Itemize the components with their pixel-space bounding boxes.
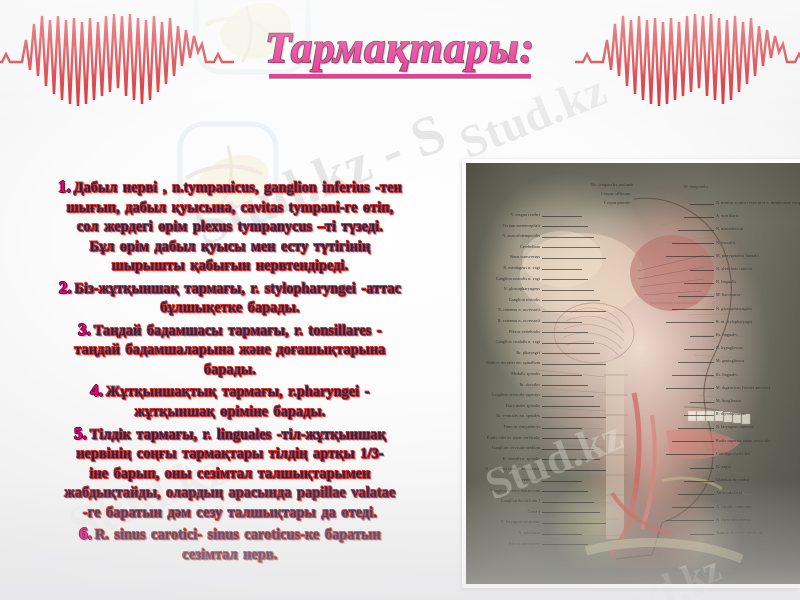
figure-label: R. thyrohyoideus — [716, 412, 746, 417]
figure-label: M. buccinator — [716, 293, 740, 298]
list-item-text: сезімтал нерв. — [183, 547, 278, 563]
list-item-line: Бұл өрім дабыл қуысы мен есту түтігінің — [4, 238, 456, 256]
figure-leader-line — [690, 204, 714, 205]
figure-leader-line — [542, 226, 588, 227]
list-item-text: жұтқыншақ өріміне барады. — [135, 404, 326, 420]
slide-title-block: Тармақтары: — [0, 26, 800, 78]
figure-leader-line — [542, 385, 588, 386]
figure-label: Ansa subclavia — [716, 491, 742, 496]
list-item-number: 4. — [90, 381, 103, 400]
list-item-line: таңдай бадамшаларына және доғашықтарына — [4, 341, 456, 359]
figure-leader-line — [542, 544, 588, 545]
figure-label: R. externus n. accessorii — [498, 319, 540, 324]
list-item-first-line: 1.Дабыл нервi , n.tympanicus, ganglion i… — [4, 176, 456, 198]
figure-label: R. internus n. accessorii — [498, 308, 540, 313]
figure-leader-line — [542, 512, 600, 513]
figure-label: N. lingualis — [716, 280, 736, 285]
list-item-text: шырышты қабығын нервтендіреді. — [112, 258, 348, 274]
figure-leader-line — [542, 247, 600, 248]
figure-leader-line — [666, 454, 714, 455]
figure-label: Ganglion thoracicum I — [501, 499, 540, 504]
list-item-line: шығып, дабыл қуысына, cavitas tympani-ге… — [4, 199, 456, 217]
figure-label: M. temporalis — [684, 185, 708, 190]
figure-label: N. hypoglossus — [716, 346, 743, 351]
figure-label: N. massetericus — [716, 227, 743, 232]
figure-leader-line — [542, 237, 594, 238]
figure-leader-line — [542, 290, 594, 291]
list-item-line: жабдықтайды, олардың арасында papillae v… — [4, 484, 456, 502]
list-item-line: -ге баратын дәм сезу талшықтары да өтеді… — [4, 504, 456, 522]
list-item-text: бұлшықетке барады. — [160, 300, 299, 316]
figure-label: M. hyoglossus — [716, 399, 741, 404]
figure-leader-line — [666, 256, 714, 257]
figure-label: R. meningeus n. vagi — [503, 266, 540, 271]
figure-label: N. vagus — [716, 465, 731, 470]
list-item-line: шырышты қабығын нервтендіреді. — [4, 257, 456, 275]
list-item-line: іне барып, оны сезімтал талшықтарымен — [4, 465, 456, 483]
figure-label: Medulla spinalis — [511, 372, 540, 377]
list-item-first-line: 4.Жұтқыншақтық тармағы, r.pharyngei - — [4, 380, 456, 402]
list-item-first-line: 3.Таңдай бадамшасы тармағы, r. tonsillar… — [4, 319, 456, 341]
figure-leader-line — [542, 438, 588, 439]
figure-label: Cerebellum — [520, 245, 540, 250]
figure-label: Ganglion cervicale medium — [492, 446, 540, 451]
figure-leader-line — [542, 311, 606, 312]
figure-label: Corpus callosum — [601, 192, 630, 197]
figure-label: Radix inferior ansae cervicalis — [487, 436, 540, 441]
figure-label: R. m. stylopharyngei — [716, 320, 752, 325]
slide-canvas: Stud.kz - S Stud.kz Stud.kz Stud.kz d.kz… — [0, 0, 800, 600]
figure-leader-line — [542, 523, 606, 524]
photo-bottom-band — [466, 568, 800, 584]
figure-label: Ganglion rostralis — [509, 298, 540, 303]
figure-label: N. cardiacus cervicalis superior — [485, 467, 540, 472]
figure-label: A. vertebralis — [516, 478, 540, 483]
figure-leader-line — [666, 322, 714, 323]
list-item-line: сезімтал нерв. — [4, 546, 456, 564]
list-item-number: 3. — [78, 320, 91, 339]
figure-label: Ganglion cervicothoracicum — [491, 489, 540, 494]
figure-label: Corpus pineale — [604, 201, 630, 206]
figure-label: Radix superior ansae cervicalis — [716, 439, 770, 444]
figure-label: Rr. linguales — [716, 333, 738, 338]
figure-label: N. laryngeus recurrens — [501, 520, 540, 525]
figure-label: M. genioglossus — [716, 359, 744, 364]
list-item-text: жабдықтайды, олардың арасында papillae v… — [65, 485, 396, 501]
figure-leader-line — [672, 309, 714, 310]
figure-leader-line — [542, 449, 594, 450]
figure-leader-line — [542, 364, 606, 365]
list-item-number: 1. — [58, 177, 71, 196]
figure-label: Truncus sympathicus — [503, 425, 540, 430]
figure-label: Sinus transversus — [510, 255, 540, 260]
figure-leader-line — [678, 296, 714, 297]
list-item-line: нервінің соңғы тармақтары тілдің артқы 1… — [4, 445, 456, 463]
figure-label: A. thyroidea interna — [716, 518, 751, 523]
figure-leader-line — [542, 322, 582, 323]
watermark-stud-kz: Stud.kz — [452, 63, 614, 169]
list-item-first-line: 6.R. sinus carotici- sinus caroticus-ке … — [4, 523, 456, 545]
figure-leader-line — [542, 406, 600, 407]
figure-label: N. meatus acustici externi et n. membran… — [716, 201, 800, 206]
figure-leader-line — [542, 353, 600, 354]
list-item-text: Біз-жұтқыншақ тармағы, r. stylopharyngei… — [75, 281, 401, 297]
figure-label: Costa I — [528, 510, 540, 515]
figure-label: Rr. dorsales — [519, 383, 540, 388]
figure-label: Nn. temporales profundi — [591, 183, 633, 188]
figure-leader-line — [678, 230, 714, 231]
figure-leader-line — [672, 375, 714, 376]
list-item-line: бұлшықетке барады. — [4, 299, 456, 317]
figure-leader-line — [684, 349, 714, 350]
figure-leader-line — [542, 396, 594, 397]
figure-label: M. digastricus (venter anterior) — [716, 386, 770, 391]
list-item-text: -ге баратын дәм сезу талшықтары да өтеді… — [83, 505, 377, 521]
figure-label: Cartilago thyroidea — [716, 452, 750, 457]
figure-leader-line — [678, 428, 714, 429]
figure-label: A. carotis communis — [716, 505, 752, 510]
title-underline — [269, 74, 531, 78]
figure-leader-line — [690, 534, 714, 535]
figure-label: N. auriculotemporalis — [502, 234, 540, 239]
figure-leader-line — [666, 520, 714, 521]
list-item-line: жұтқыншақ өріміне барады. — [4, 403, 456, 421]
figure-leader-line — [690, 402, 714, 403]
figure-leader-line — [542, 343, 594, 344]
figure-label: A. maxillaris — [716, 214, 739, 219]
figure-label: Rr. ventrales nn. spinales — [496, 414, 540, 419]
list-item-number: 2. — [59, 278, 72, 297]
figure-label: Dura mater spinalis — [506, 404, 540, 409]
figure-label: Plexus subclavius — [509, 542, 540, 547]
figure-leader-line — [542, 534, 582, 535]
list-item-text: барады. — [204, 362, 256, 378]
figure-leader-line — [672, 507, 714, 508]
figure-leader-line — [542, 258, 606, 259]
figure-leader-line — [690, 270, 714, 271]
figure-leader-line — [542, 375, 582, 376]
figure-leader-line — [690, 468, 714, 469]
list-item-text: іне барып, оны сезімтал талшықтарымен — [90, 466, 371, 482]
figure-leader-line — [684, 217, 714, 218]
figure-label: Truncus brachiocephalicus — [716, 531, 762, 536]
figure-label: Radices dorsales nn. spinalium — [486, 361, 540, 366]
figure-leader-line — [542, 279, 588, 280]
numbered-list: 1.Дабыл нервi , n.tympanicus, ganglion i… — [4, 176, 456, 565]
list-item-text: Таңдай бадамшасы тармағы, r. tonsillares… — [94, 323, 382, 339]
list-item-text: Бұл өрім дабыл қуысы мен есту түтігінің — [90, 239, 371, 255]
list-item-line: сол жердегі өрім plexus tympanycus –ті т… — [4, 218, 456, 236]
list-item-first-line: 5.Тілдік тармағы, r. linguales -тіл-жұтқ… — [4, 423, 456, 445]
list-item-line: барады. — [4, 361, 456, 379]
figure-label: A. subclavia — [518, 531, 540, 536]
list-item-text: шығып, дабыл қуысына, cavitas tympani-ге… — [67, 200, 394, 216]
figure-leader-line — [542, 417, 606, 418]
page-title: Тармақтары: — [259, 26, 541, 73]
figure-label: R. dorsalis n. spinalis — [503, 457, 540, 462]
figure-label: Tectum mesencephali — [503, 224, 540, 229]
figure-leader-line — [542, 502, 594, 503]
figure-leader-line — [542, 216, 582, 217]
list-item-text: таңдай бадамшаларына және доғашықтарына — [75, 342, 386, 358]
figure-leader-line — [542, 300, 600, 301]
figure-label: V. magna cerebri — [511, 213, 540, 218]
list-item-first-line: 2.Біз-жұтқыншақ тармағы, r. stylopharyng… — [4, 277, 456, 299]
list-item-text: Жұтқыншақтық тармағы, r.pharyngei - — [106, 384, 370, 400]
figure-leader-line — [672, 441, 714, 442]
figure-leader-line — [542, 332, 588, 333]
figure-leader-line — [542, 269, 582, 270]
figure-leader-line — [542, 428, 582, 429]
figure-label: Rr. linguales — [716, 373, 738, 378]
figure-leader-line — [684, 481, 714, 482]
figure-label: M. pterygoideus lateralis — [716, 254, 759, 259]
figure-label: N. glossopharyngeus — [716, 307, 752, 312]
figure-label: Glandula thyroidea — [716, 478, 749, 483]
figure-leader-line — [542, 481, 582, 482]
list-item-text: Тілдік тармағы, r. linguales -тіл-жұтқын… — [90, 427, 386, 443]
figure-label: Ganglion cervicale superius — [492, 393, 540, 398]
figure-leader-line — [672, 243, 714, 244]
figure-leader-line — [684, 283, 714, 284]
figure-leader-line — [684, 415, 714, 416]
figure-label: Plexus vertebralis — [509, 330, 540, 335]
figure-leader-line — [678, 362, 714, 363]
figure-leader-line — [542, 491, 588, 492]
list-item-text: нервінің соңғы тармақтары тілдің артқы 1… — [76, 446, 383, 462]
figure-label: Ganglion caudalis n. vagi — [496, 340, 540, 345]
list-item-text: R. sinus carotici- sinus caroticus-ке ба… — [95, 527, 381, 543]
figure-leader-line — [542, 459, 600, 460]
list-item-number: 5. — [74, 424, 87, 443]
anatomy-photo: Nn. temporales profundiCorpus callosumCo… — [466, 163, 800, 584]
figure-label: Rr. pharyngei — [516, 351, 540, 356]
figure-leader-line — [690, 336, 714, 337]
figure-leader-line — [666, 388, 714, 389]
list-item-text: Дабыл нервi , n.tympanicus, ganglion inf… — [74, 180, 402, 196]
anatomy-figure: Nn. temporales profundiCorpus callosumCo… — [462, 159, 800, 588]
figure-leader-line — [678, 494, 714, 495]
figure-label: N. glossopharyngeus — [504, 287, 540, 292]
list-item-number: 6. — [79, 524, 92, 543]
figure-label: N. buccalis — [716, 241, 736, 246]
figure-label: N. laryngeus superior — [716, 425, 753, 430]
figure-label: N. alveolaris inferior — [716, 267, 752, 272]
figure-label: Ganglion rostralis n. vagi — [496, 277, 540, 282]
list-item-text: сол жердегі өрім plexus tympanycus –ті т… — [77, 219, 383, 235]
figure-leader-line — [542, 470, 606, 471]
